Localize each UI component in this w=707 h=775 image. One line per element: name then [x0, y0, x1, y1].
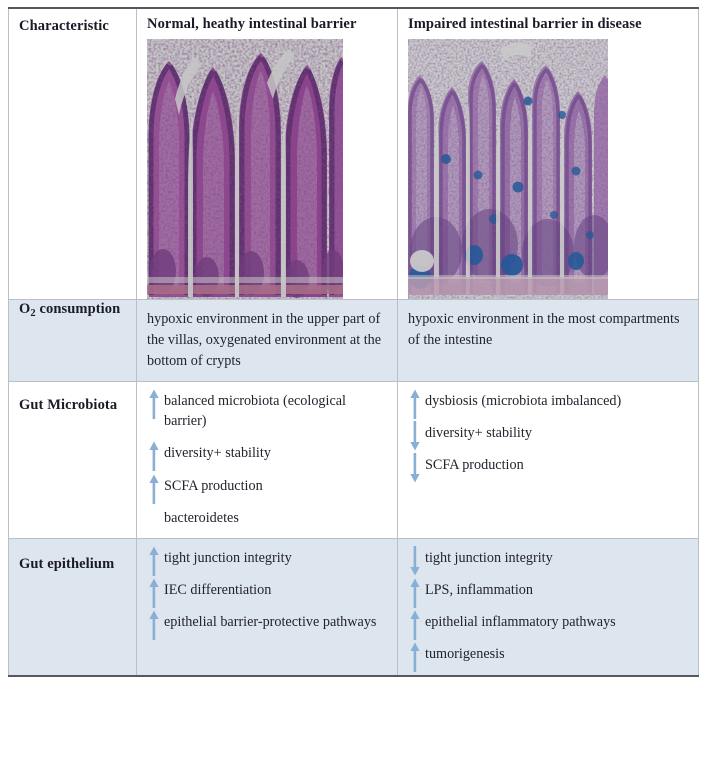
- list-item: LPS, inflammation: [408, 580, 688, 600]
- arrow-down-icon: [409, 421, 421, 451]
- list-item-label: SCFA production: [425, 457, 524, 473]
- text-o2-normal: hypoxic environment in the upper part of…: [147, 309, 387, 371]
- arrow-up-icon: [409, 578, 421, 608]
- arrow-up-icon: [148, 474, 160, 504]
- list-item-label: SCFA production: [164, 478, 263, 494]
- arrow-down-icon: [409, 453, 421, 483]
- table-header-row: Characteristic Normal, heathy intestinal…: [9, 8, 699, 300]
- arrow-down-icon: [409, 546, 421, 576]
- page-root: Characteristic Normal, heathy intestinal…: [0, 0, 707, 775]
- column-header-characteristic: Characteristic: [19, 18, 126, 35]
- row-label-gut-epithelium: Gut epithelium: [19, 555, 126, 573]
- comparison-table: Characteristic Normal, heathy intestinal…: [8, 7, 699, 677]
- list-item-label: tight junction integrity: [425, 550, 553, 566]
- arrow-up-icon: [409, 610, 421, 640]
- arrow-list-epithelium-impaired: tight junction integrityLPS, inflammatio…: [408, 548, 688, 665]
- cell-o2-impaired: hypoxic environment in the most compartm…: [398, 300, 699, 382]
- arrow-list-microbiota-normal: balanced microbiota (ecological barrier)…: [147, 391, 387, 528]
- header-cell-normal: Normal, heathy intestinal barrier: [137, 8, 398, 300]
- table-row-gut-epithelium: Gut epithelium tight junction integrityI…: [9, 538, 699, 675]
- row-label-o2-suffix: consumption: [36, 301, 121, 317]
- list-item: diversity+ stability: [147, 443, 387, 463]
- header-cell-impaired: Impaired intestinal barrier in disease: [398, 8, 699, 300]
- row-label-o2-consumption: O2 consumption: [19, 300, 126, 320]
- histology-normal-image: [147, 39, 343, 299]
- list-item-label: tight junction integrity: [164, 550, 292, 566]
- arrow-up-icon: [409, 642, 421, 672]
- arrow-up-icon: [148, 578, 160, 608]
- arrow-up-icon: [148, 389, 160, 419]
- row-label-gut-microbiota: Gut Microbiota: [19, 396, 126, 414]
- text-o2-impaired: hypoxic environment in the most compartm…: [408, 309, 688, 350]
- list-item: diversity+ stability: [408, 423, 688, 443]
- list-item: tight junction integrity: [147, 548, 387, 568]
- list-item: tight junction integrity: [408, 548, 688, 568]
- list-item: dysbiosis (microbiota imbalanced): [408, 391, 688, 411]
- list-item: epithelial barrier-protective pathways: [147, 612, 387, 632]
- column-header-normal: Normal, heathy intestinal barrier: [147, 16, 387, 33]
- header-cell-characteristic: Characteristic: [9, 8, 137, 300]
- histology-impaired-image: [408, 39, 608, 299]
- arrow-list-microbiota-impaired: dysbiosis (microbiota imbalanced)diversi…: [408, 391, 688, 475]
- list-item-label: dysbiosis (microbiota imbalanced): [425, 393, 621, 409]
- list-item-label: tumorigenesis: [425, 646, 505, 662]
- list-item-label: epithelial inflammatory pathways: [425, 614, 616, 630]
- list-item-label: LPS, inflammation: [425, 582, 533, 598]
- list-item-label: bacteroidetes: [164, 510, 239, 526]
- table-row-o2-consumption: O2 consumption hypoxic environment in th…: [9, 300, 699, 382]
- list-item-label: diversity+ stability: [164, 445, 271, 461]
- list-item: tumorigenesis: [408, 644, 688, 664]
- arrow-up-icon: [409, 389, 421, 419]
- cell-o2-normal: hypoxic environment in the upper part of…: [137, 300, 398, 382]
- list-item: SCFA production: [408, 455, 688, 475]
- cell-microbiota-normal: balanced microbiota (ecological barrier)…: [137, 382, 398, 539]
- arrow-up-icon: [148, 441, 160, 471]
- table-row-gut-microbiota: Gut Microbiota balanced microbiota (ecol…: [9, 382, 699, 539]
- arrow-up-icon: [148, 546, 160, 576]
- list-item: bacteroidetes: [147, 508, 387, 528]
- row-label-cell-microbiota: Gut Microbiota: [9, 382, 137, 539]
- arrow-up-icon: [148, 610, 160, 640]
- row-label-o2-prefix: O: [19, 301, 30, 317]
- cell-epithelium-impaired: tight junction integrityLPS, inflammatio…: [398, 538, 699, 675]
- list-item-label: diversity+ stability: [425, 425, 532, 441]
- list-item: IEC differentiation: [147, 580, 387, 600]
- histology-impaired-wrapper: [408, 39, 688, 299]
- arrow-list-epithelium-normal: tight junction integrityIEC differentiat…: [147, 548, 387, 632]
- list-item-label: epithelial barrier-protective pathways: [164, 614, 376, 630]
- list-item: epithelial inflammatory pathways: [408, 612, 688, 632]
- column-header-impaired: Impaired intestinal barrier in disease: [408, 16, 688, 33]
- list-item: balanced microbiota (ecological barrier): [147, 391, 387, 431]
- row-label-cell-epithelium: Gut epithelium: [9, 538, 137, 675]
- histology-normal-wrapper: [147, 39, 387, 299]
- list-item-label: IEC differentiation: [164, 582, 271, 598]
- list-item-label: balanced microbiota (ecological barrier): [164, 393, 346, 429]
- cell-microbiota-impaired: dysbiosis (microbiota imbalanced)diversi…: [398, 382, 699, 539]
- list-item: SCFA production: [147, 476, 387, 496]
- cell-epithelium-normal: tight junction integrityIEC differentiat…: [137, 538, 398, 675]
- row-label-cell-o2: O2 consumption: [9, 300, 137, 382]
